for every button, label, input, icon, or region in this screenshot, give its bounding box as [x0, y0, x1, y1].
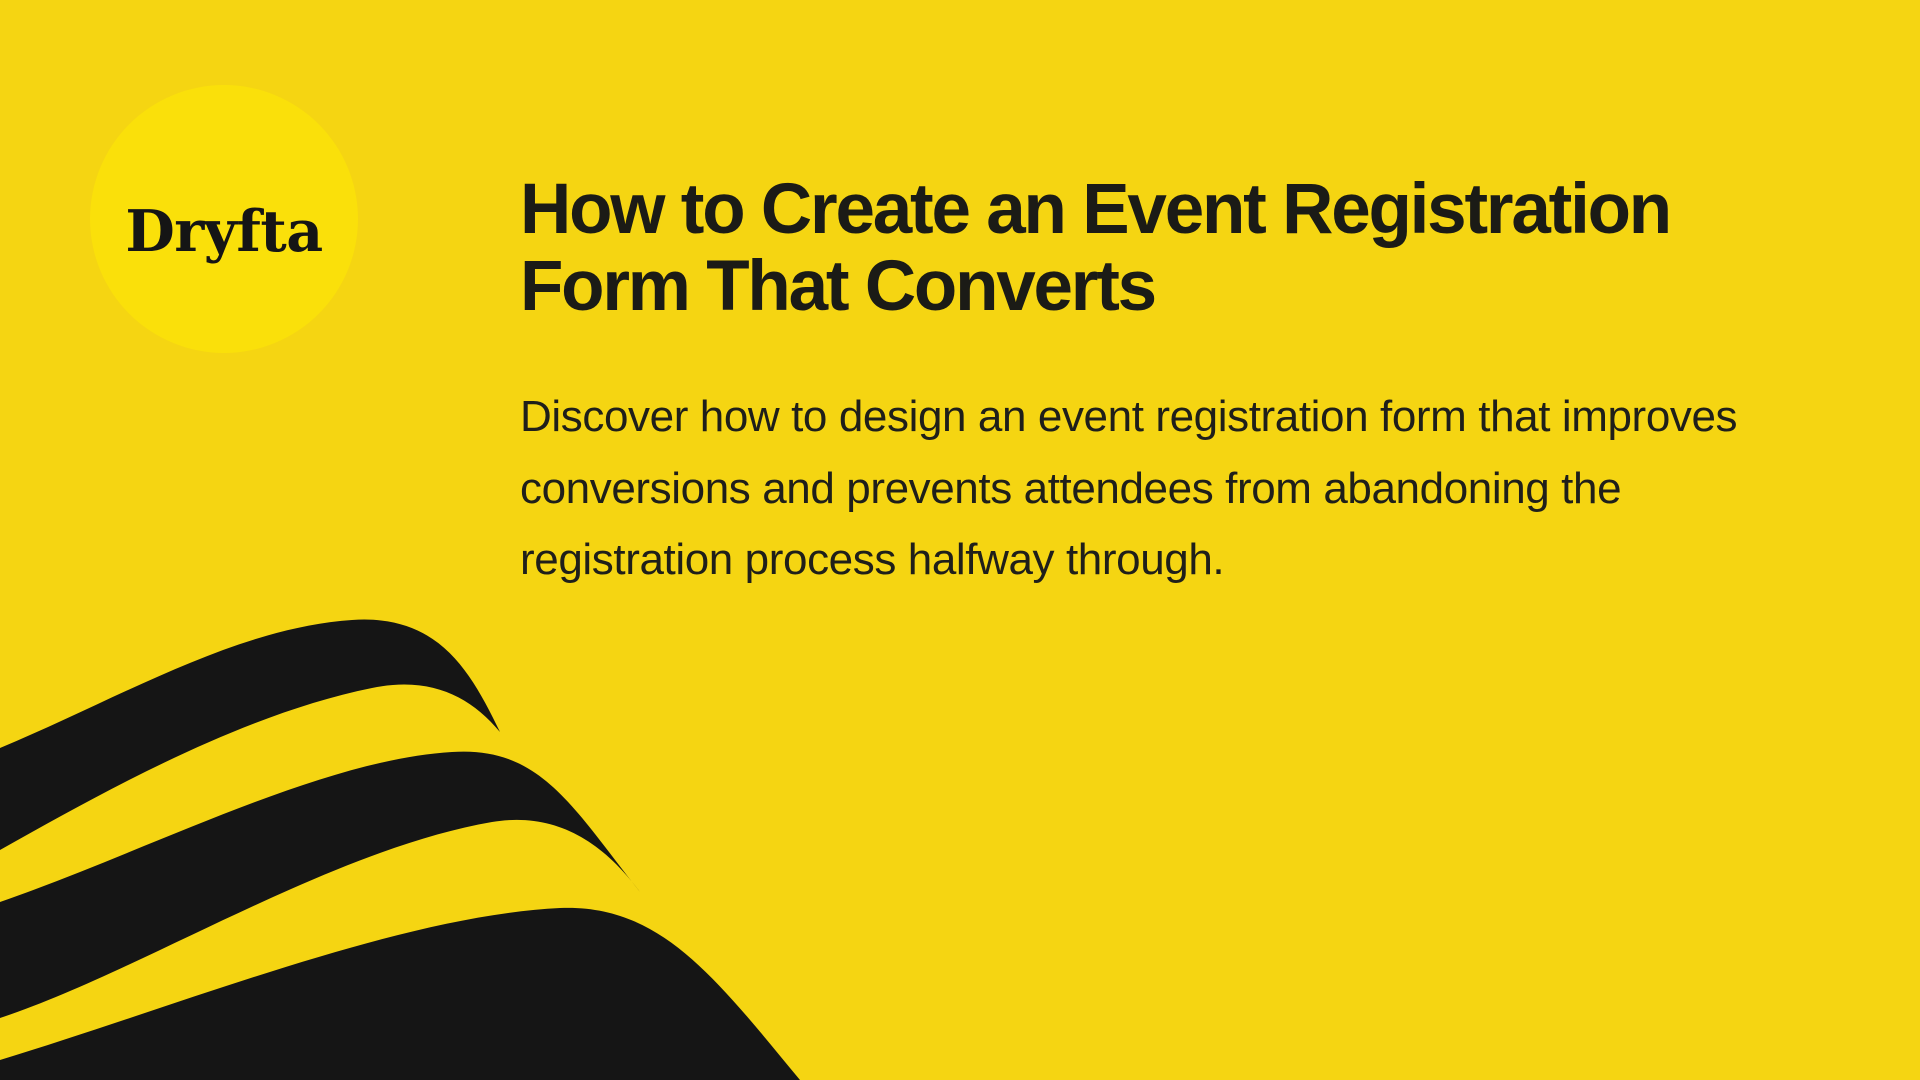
promo-card: Dryfta How to Create an Event Registrati…	[0, 0, 1920, 1080]
wave-band-2	[0, 752, 640, 1018]
text-column: How to Create an Event Registration Form…	[520, 172, 1810, 595]
wave-bands-decoration	[0, 520, 820, 1080]
wave-band-1	[0, 620, 500, 850]
page-title: How to Create an Event Registration Form…	[520, 172, 1780, 325]
brand-wordmark: Dryfta	[125, 203, 322, 260]
wave-band-3	[0, 908, 800, 1080]
page-subtitle: Discover how to design an event registra…	[520, 381, 1780, 595]
brand-logo-badge[interactable]: Dryfta	[90, 85, 358, 353]
wave-bands-svg	[0, 520, 820, 1080]
